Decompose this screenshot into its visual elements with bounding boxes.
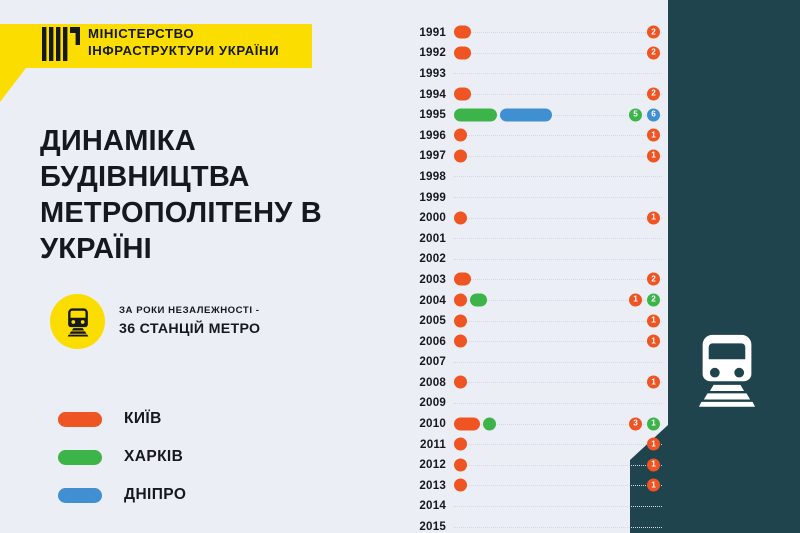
chart-row-track: 31 <box>454 413 662 434</box>
chart-bar-dnipro <box>500 108 552 121</box>
chart-bar-kyiv <box>454 129 467 142</box>
chart-row: 20131 <box>412 475 662 496</box>
chart-row-year: 2008 <box>412 376 454 389</box>
chart-bar-group <box>454 458 467 471</box>
chart-legend: КиївХарківДніпро <box>58 400 186 514</box>
chart-bar-group <box>454 211 467 224</box>
chart-row-year: 1997 <box>412 149 454 162</box>
legend-swatch-dnipro <box>58 488 102 503</box>
chart-bar-kyiv <box>454 26 471 39</box>
legend-label-dnipro: Дніпро <box>124 486 186 504</box>
chart-row: 19922 <box>412 43 662 64</box>
chart-bar-group <box>454 108 552 121</box>
chart-row-track: 2 <box>454 43 662 64</box>
chart-row-year: 2012 <box>412 458 454 471</box>
chart-bar-kyiv <box>454 335 467 348</box>
chart-value-badge-kyiv: 2 <box>647 26 660 39</box>
chart-value-badge-dnipro: 6 <box>647 108 660 121</box>
chart-badge-group: 12 <box>629 294 660 307</box>
chart-bar-kyiv <box>454 273 471 286</box>
chart-gridline <box>454 259 662 260</box>
chart-badge-group: 2 <box>647 273 660 286</box>
chart-row-track <box>454 496 662 517</box>
chart-value-badge-kharkiv: 2 <box>647 294 660 307</box>
chart-row-year: 1996 <box>412 129 454 142</box>
chart-row-track: 12 <box>454 290 662 311</box>
ministry-name: Міністерство інфраструктури України <box>88 25 279 59</box>
chart-gridline <box>454 156 662 157</box>
chart-row-track <box>454 63 662 84</box>
chart-badge-group: 1 <box>647 149 660 162</box>
chart-gridline <box>454 279 662 280</box>
legend-label-kharkiv: Харків <box>124 448 183 466</box>
chart-row-year: 1998 <box>412 170 454 183</box>
chart-row-year: 2011 <box>412 438 454 451</box>
chart-row-year: 1994 <box>412 88 454 101</box>
chart-row: 19912 <box>412 22 662 43</box>
chart-row-year: 2006 <box>412 335 454 348</box>
chart-row-year: 2015 <box>412 520 454 533</box>
chart-bar-group <box>454 335 467 348</box>
chart-row-year: 2004 <box>412 294 454 307</box>
chart-row: 200412 <box>412 290 662 311</box>
chart-row: 20061 <box>412 331 662 352</box>
metro-train-icon <box>688 330 766 408</box>
chart-badge-group: 1 <box>647 376 660 389</box>
chart-value-badge-kyiv: 2 <box>647 88 660 101</box>
chart-row-year: 2002 <box>412 252 454 265</box>
chart-bar-group <box>454 376 467 389</box>
legend-item-dnipro[interactable]: Дніпро <box>58 476 186 514</box>
chart-row-track: 2 <box>454 269 662 290</box>
chart-row-track: 1 <box>454 454 662 475</box>
chart-row-track: 1 <box>454 475 662 496</box>
chart-bar-kyiv <box>454 46 471 59</box>
chart-row-track: 1 <box>454 372 662 393</box>
chart-row-track <box>454 166 662 187</box>
chart-row: 1993 <box>412 63 662 84</box>
chart-row-track <box>454 228 662 249</box>
chart-row-track: 56 <box>454 104 662 125</box>
stat-line-1: За роки незалежності - <box>119 305 260 317</box>
chart-row-track <box>454 393 662 414</box>
chart-row: 20051 <box>412 310 662 331</box>
chart-bar-group <box>454 88 471 101</box>
chart-row: 20001 <box>412 207 662 228</box>
chart-row: 2009 <box>412 393 662 414</box>
chart-value-badge-kharkiv: 5 <box>629 108 642 121</box>
chart-badge-group: 1 <box>647 211 660 224</box>
chart-row-track: 1 <box>454 125 662 146</box>
chart-bar-group <box>454 438 467 451</box>
chart-badge-group: 2 <box>647 46 660 59</box>
chart-row: 2015 <box>412 516 662 533</box>
chart-bar-kyiv <box>454 314 467 327</box>
chart-bar-group <box>454 26 471 39</box>
chart-gridline <box>454 176 662 177</box>
chart-gridline <box>454 197 662 198</box>
chart-row: 20032 <box>412 269 662 290</box>
chart-gridline <box>454 403 662 404</box>
chart-row-track: 1 <box>454 434 662 455</box>
chart-value-badge-kyiv: 1 <box>647 211 660 224</box>
chart-gridline <box>454 32 662 33</box>
chart-bar-group <box>454 294 487 307</box>
chart-bar-group <box>454 149 467 162</box>
chart-row-year: 1991 <box>412 26 454 39</box>
chart-bar-kharkiv <box>483 417 496 430</box>
chart-bar-group <box>454 46 471 59</box>
chart-gridline <box>454 73 662 74</box>
chart-row-year: 2003 <box>412 273 454 286</box>
chart-value-badge-kyiv: 1 <box>647 149 660 162</box>
chart-value-badge-kyiv: 3 <box>629 417 642 430</box>
chart-gridline <box>454 485 662 486</box>
chart-value-badge-kyiv: 2 <box>647 273 660 286</box>
chart-bar-kyiv <box>454 294 467 307</box>
chart-row-track <box>454 516 662 533</box>
chart-gridline <box>454 382 662 383</box>
chart-row: 201031 <box>412 413 662 434</box>
chart-row: 2001 <box>412 228 662 249</box>
stat-icon-circle <box>50 294 105 349</box>
chart-bar-group <box>454 129 467 142</box>
chart-row-year: 2000 <box>412 211 454 224</box>
chart-badge-group: 2 <box>647 26 660 39</box>
chart-row-track <box>454 249 662 270</box>
chart-row: 19961 <box>412 125 662 146</box>
legend-swatch-kyiv <box>58 412 102 427</box>
chart-row-year: 2010 <box>412 417 454 430</box>
chart-badge-group: 56 <box>629 108 660 121</box>
chart-row-track <box>454 187 662 208</box>
chart-value-badge-kyiv: 1 <box>647 376 660 389</box>
chart-gridline <box>454 135 662 136</box>
chart-row-year: 2013 <box>412 479 454 492</box>
chart-row: 1998 <box>412 166 662 187</box>
chart-badge-group: 31 <box>629 417 660 430</box>
chart-gridline <box>454 218 662 219</box>
chart-value-badge-kyiv: 1 <box>629 294 642 307</box>
chart-gridline <box>454 444 662 445</box>
chart-bar-kyiv <box>454 149 467 162</box>
chart-badge-group: 1 <box>647 314 660 327</box>
chart-badge-group: 1 <box>647 129 660 142</box>
chart-row-track: 1 <box>454 207 662 228</box>
chart-bar-kyiv <box>454 438 467 451</box>
chart-row: 1999 <box>412 187 662 208</box>
chart-gridline <box>454 341 662 342</box>
chart-row-year: 1992 <box>412 46 454 59</box>
chart-gridline <box>454 238 662 239</box>
chart-bar-kyiv <box>454 458 467 471</box>
chart-badge-group: 1 <box>647 438 660 451</box>
infographic-canvas: Міністерство інфраструктури України Дина… <box>0 0 800 533</box>
chart-badge-group: 1 <box>647 458 660 471</box>
chart-value-badge-kyiv: 1 <box>647 438 660 451</box>
chart-bar-kharkiv <box>470 294 487 307</box>
chart-bar-kyiv <box>454 417 480 430</box>
chart-row: 20081 <box>412 372 662 393</box>
chart-row: 2007 <box>412 352 662 373</box>
ministry-name-line1: Міністерство <box>88 25 279 42</box>
chart-value-badge-kyiv: 1 <box>647 458 660 471</box>
chart-value-badge-kyiv: 1 <box>647 314 660 327</box>
chart-badge-group: 1 <box>647 479 660 492</box>
legend-swatch-kharkiv <box>58 450 102 465</box>
chart-row-track: 2 <box>454 22 662 43</box>
chart-bar-group <box>454 314 467 327</box>
chart-value-badge-kyiv: 1 <box>647 479 660 492</box>
legend-label-kyiv: Київ <box>124 410 162 428</box>
chart-row: 20111 <box>412 434 662 455</box>
chart-row-year: 2007 <box>412 355 454 368</box>
chart-row-year: 1999 <box>412 191 454 204</box>
stat-line-2: 36 станцій метро <box>119 320 260 338</box>
chart-bar-kyiv <box>454 88 471 101</box>
chart-badge-group: 2 <box>647 88 660 101</box>
chart-row-year: 2009 <box>412 396 454 409</box>
chart-value-badge-kyiv: 1 <box>647 129 660 142</box>
chart-gridline <box>454 53 662 54</box>
chart-bar-kyiv <box>454 376 467 389</box>
chart-row: 2014 <box>412 496 662 517</box>
chart-bar-kyiv <box>454 211 467 224</box>
chart-bar-kharkiv <box>454 108 497 121</box>
page-title: Динаміка будівництва метрополітену в Укр… <box>40 123 370 267</box>
chart-value-badge-kyiv: 2 <box>647 46 660 59</box>
chart-row-year: 2014 <box>412 499 454 512</box>
chart-row-track: 1 <box>454 331 662 352</box>
chart-row-year: 1995 <box>412 108 454 121</box>
chart-gridline <box>454 506 662 507</box>
chart-gridline <box>454 362 662 363</box>
chart-row-year: 2005 <box>412 314 454 327</box>
chart-value-badge-kyiv: 1 <box>647 335 660 348</box>
chart-row-track: 1 <box>454 146 662 167</box>
legend-item-kyiv[interactable]: Київ <box>58 400 186 438</box>
chart-bar-group <box>454 273 471 286</box>
ministry-bars-logo-icon <box>42 27 80 61</box>
chart-gridline <box>454 465 662 466</box>
chart-row: 19971 <box>412 146 662 167</box>
metro-stations-chart: 1991219922199319942199556199611997119981… <box>412 22 662 517</box>
chart-row-year: 1993 <box>412 67 454 80</box>
chart-bar-kyiv <box>454 479 467 492</box>
chart-row-year: 2001 <box>412 232 454 245</box>
chart-row: 20121 <box>412 454 662 475</box>
chart-row: 199556 <box>412 104 662 125</box>
legend-item-kharkiv[interactable]: Харків <box>58 438 186 476</box>
chart-gridline <box>454 94 662 95</box>
chart-badge-group: 1 <box>647 335 660 348</box>
chart-row-track: 2 <box>454 84 662 105</box>
chart-row: 2002 <box>412 249 662 270</box>
stat-highlight: За роки незалежності - 36 станцій метро <box>50 294 260 349</box>
ministry-banner-tail <box>0 68 40 102</box>
ministry-name-line2: інфраструктури України <box>88 42 279 59</box>
chart-bar-group <box>454 417 496 430</box>
chart-row-track: 1 <box>454 310 662 331</box>
chart-gridline <box>454 527 662 528</box>
metro-train-icon <box>63 307 93 337</box>
chart-gridline <box>454 321 662 322</box>
chart-bar-group <box>454 479 467 492</box>
chart-row: 19942 <box>412 84 662 105</box>
stat-text: За роки незалежності - 36 станцій метро <box>119 305 260 337</box>
chart-value-badge-kharkiv: 1 <box>647 417 660 430</box>
chart-row-track <box>454 352 662 373</box>
